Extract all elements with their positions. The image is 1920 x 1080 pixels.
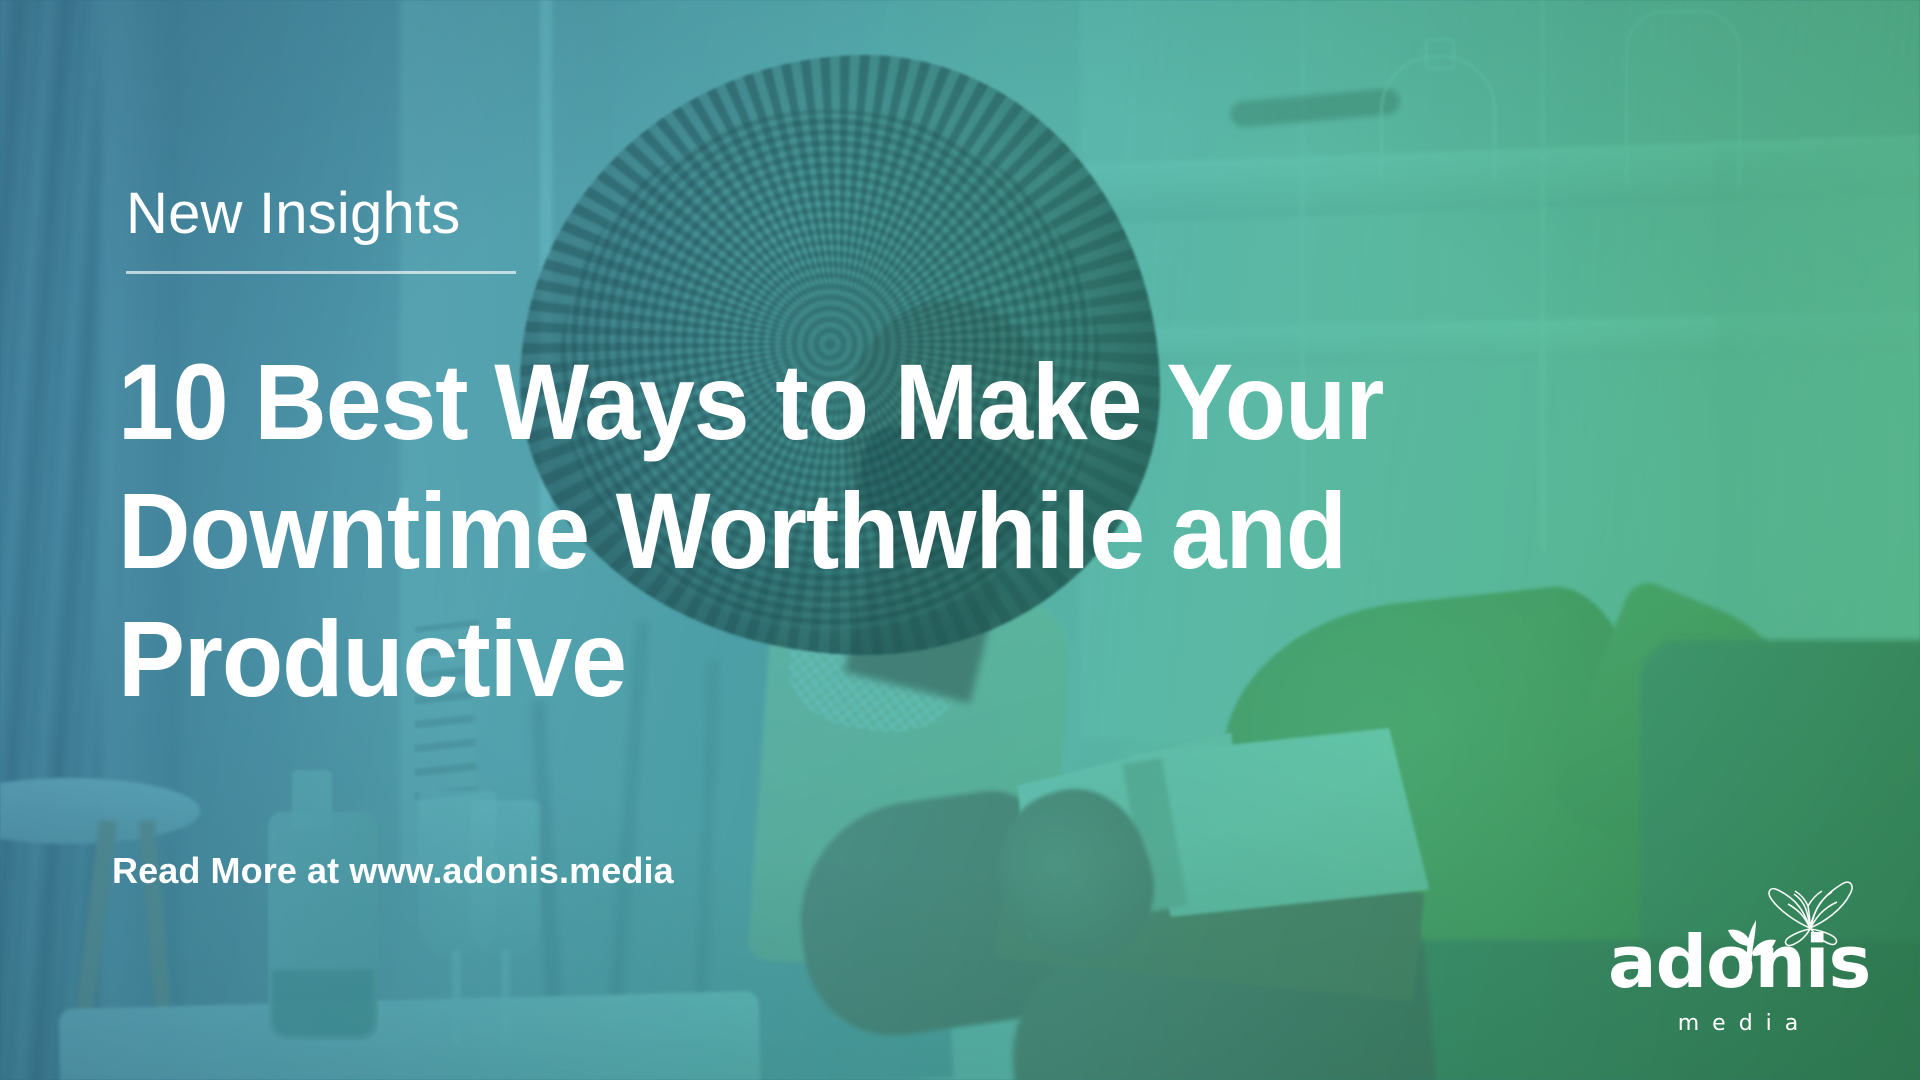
call-to-action-text: Read More at www.adonis.media bbox=[112, 850, 674, 892]
logo-wordmark: adonis bbox=[1608, 926, 1868, 998]
adonis-media-logo[interactable]: adonis media bbox=[1608, 872, 1868, 1042]
eyebrow-label: New Insights bbox=[126, 185, 460, 243]
page-title: 10 Best Ways to Make Your Downtime Worth… bbox=[118, 338, 1625, 724]
content-layer: New Insights 10 Best Ways to Make Your D… bbox=[0, 0, 1920, 1080]
logo-tagline: media bbox=[1608, 1011, 1868, 1036]
eyebrow-underline bbox=[126, 271, 516, 274]
promo-card-canvas: New Insights 10 Best Ways to Make Your D… bbox=[0, 0, 1920, 1080]
